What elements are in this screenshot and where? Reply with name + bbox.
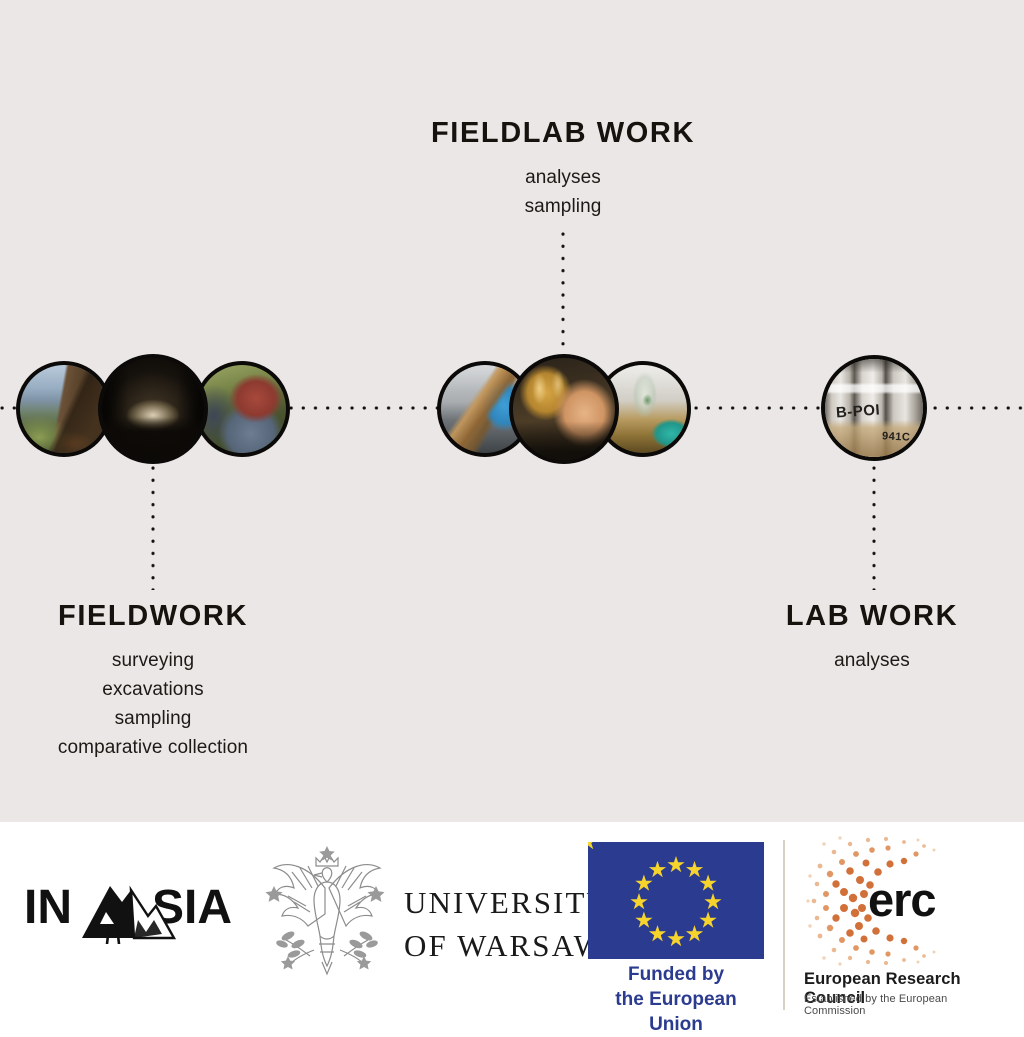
- erc-wordmark: erc: [868, 876, 936, 923]
- connector-labwork: [871, 462, 877, 590]
- sample-jar-label-1: B-POI: [835, 401, 880, 421]
- erc-logo: erc European Research Council Establishe…: [800, 836, 1000, 1016]
- timeline-rail-fieldlab-to-lab: [690, 405, 821, 411]
- timeline-rail-right: [929, 405, 1024, 411]
- eu-flag-icon: [588, 842, 764, 959]
- fieldwork-item-sampling: sampling: [0, 705, 353, 734]
- labwork-photo-cluster: B-POI 941C: [821, 355, 929, 463]
- erc-line-2: Established by the European Commission: [804, 993, 1000, 1017]
- cave-interior-photo: [98, 354, 208, 464]
- cave-interior-photo-image: [102, 358, 204, 460]
- connector-fieldlab: [560, 228, 566, 356]
- fieldlab-item-sampling: sampling: [363, 193, 763, 222]
- fieldwork-item-excavations: excavations: [0, 676, 353, 705]
- labwork-item-analyses: analyses: [672, 647, 1024, 676]
- logo-divider: [783, 840, 785, 1010]
- infographic-page: B-POI 941C FIELDLAB WORK analyses sampli…: [0, 0, 1024, 1024]
- uw-line-2: OF WARSAW: [404, 925, 611, 968]
- eu-line-2: the European Union: [588, 987, 764, 1037]
- climber-helmet-photo-image: [198, 365, 286, 453]
- sample-jars-photo: B-POI 941C: [821, 355, 927, 461]
- sample-jar-label-2: 941C: [882, 430, 911, 443]
- labwork-title: LAB WORK: [672, 601, 1024, 631]
- mountain-valley-photo-image: [20, 365, 108, 453]
- uw-line-1: UNIVERSITY: [404, 882, 611, 925]
- eu-line-1: Funded by: [588, 962, 764, 987]
- crowned-eagle-crest-icon: [262, 844, 392, 984]
- inasia-logo: IN SIA: [24, 874, 234, 950]
- fieldlab-text-block: FIELDLAB WORK analyses sampling: [363, 118, 763, 222]
- fieldwork-item-comparative-collection: comparative collection: [0, 734, 353, 763]
- fieldwork-text-block: FIELDWORK surveying excavations sampling…: [0, 601, 353, 763]
- timeline-rail-fieldwork-to-fieldlab: [285, 405, 440, 411]
- eu-stars-circle: [588, 842, 764, 959]
- university-of-warsaw-wordmark: UNIVERSITY OF WARSAW: [404, 882, 611, 968]
- fieldlab-photo-cluster: [437, 358, 691, 460]
- university-of-warsaw-logo: UNIVERSITY OF WARSAW: [262, 844, 577, 984]
- funding-logo-band: IN SIA: [0, 822, 1024, 1024]
- fieldwork-title: FIELDWORK: [0, 601, 353, 631]
- microscope-hands-photo: [509, 354, 619, 464]
- climber-helmet-photo: [194, 361, 290, 457]
- inasia-word-in: IN: [24, 884, 72, 932]
- european-union-funding-logo: Funded by the European Union: [588, 842, 768, 1014]
- diagram-canvas: B-POI 941C FIELDLAB WORK analyses sampli…: [0, 0, 1024, 822]
- microscope-hands-photo-image: [513, 358, 615, 460]
- eu-funding-wordmark: Funded by the European Union: [588, 962, 764, 1037]
- fieldwork-photo-cluster: [16, 358, 290, 460]
- mountain-icon: [76, 872, 180, 944]
- fieldwork-item-surveying: surveying: [0, 647, 353, 676]
- labwork-text-block: LAB WORK analyses: [672, 601, 1024, 676]
- connector-fieldwork: [150, 462, 156, 590]
- fieldlab-title: FIELDLAB WORK: [363, 118, 763, 148]
- fieldlab-item-analyses: analyses: [363, 164, 763, 193]
